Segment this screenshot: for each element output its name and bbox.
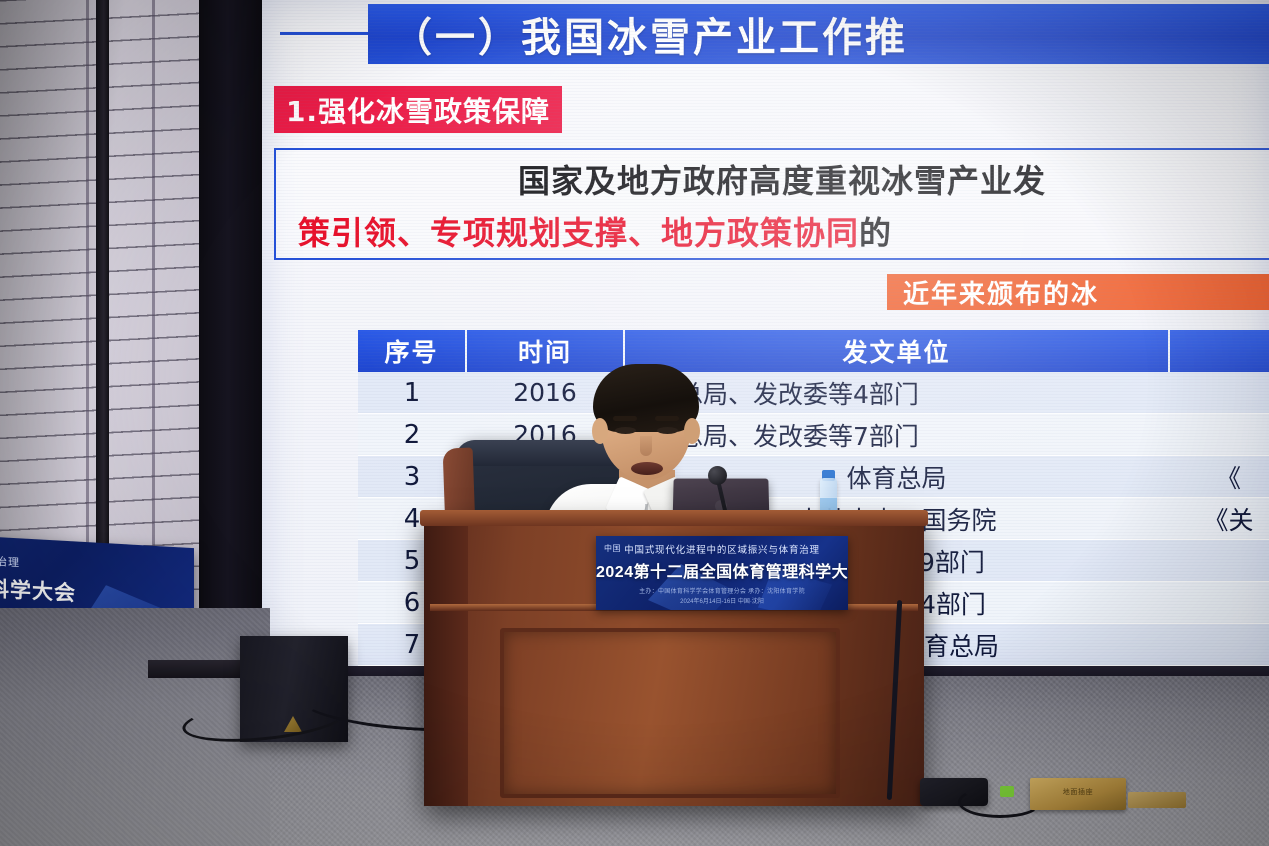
- hair: [593, 364, 699, 432]
- eyebrow-left: [613, 416, 637, 421]
- body-line-2: 策引领、专项规划支撑、地方政策协同的: [276, 208, 1269, 254]
- cell-doc: [1169, 582, 1269, 624]
- column-header-doc: [1169, 330, 1269, 372]
- column-header-index: 序号: [358, 330, 466, 372]
- podium-banner-date: 2024年6月14日-16日 中国·沈阳: [596, 596, 848, 605]
- slide-body-box: 国家及地方政府高度重视冰雪产业发 策引领、专项规划支撑、地方政策协同的: [274, 148, 1269, 260]
- table-header-row: 序号 时间 发文单位: [358, 330, 1269, 372]
- body-line-2-a: 策引领、: [298, 214, 430, 252]
- eye-right: [657, 427, 678, 434]
- cell-doc: [1169, 414, 1269, 456]
- microphone-icon: [708, 466, 727, 485]
- cell-index: 1: [358, 372, 466, 414]
- column-header-time: 时间: [466, 330, 624, 372]
- callout-text: 近年来颁布的冰: [903, 274, 1099, 311]
- cell-doc: 《: [1169, 456, 1269, 498]
- floor-plate-label: 地面插座: [1030, 787, 1126, 797]
- table-row: 1 2016 体育总局、发改委等4部门: [358, 372, 1269, 414]
- column-header-unit: 发文单位: [624, 330, 1169, 372]
- ear-right: [684, 418, 700, 444]
- title-rule: [280, 32, 370, 35]
- podium-banner-organizer: 主办：中国体育科学学会体育管理分会 承办：沈阳体育学院: [596, 586, 848, 595]
- eyebrow-right: [655, 416, 679, 421]
- podium-top-surface: [420, 510, 928, 526]
- floor-outlet-plate: 地面插座: [1030, 778, 1126, 810]
- podium-banner-title: 2024第十二届全国体育管理科学大会: [596, 558, 848, 582]
- podium-side-panel: [424, 516, 468, 806]
- wall-column-right: [199, 0, 263, 700]
- ear-left: [592, 418, 608, 444]
- body-line-1: 国家及地方政府高度重视冰雪产业发: [276, 156, 1269, 202]
- floor-outlet-plate-2: [1128, 792, 1186, 808]
- green-cable-tag: [1000, 786, 1014, 797]
- presentation-photo-stage: （一）我国冰雪产业工作推 1.强化冰雪政策保障 国家及地方政府高度重视冰雪产业发…: [0, 0, 1269, 846]
- mouth: [631, 462, 663, 475]
- body-line-2-tail: 的: [859, 214, 892, 252]
- section-title-text: （一）我国冰雪产业工作推: [392, 5, 908, 63]
- podium-banner-subtitle: 中国式现代化进程中的区域振兴与体育治理: [596, 542, 848, 556]
- body-line-2-c: 地方政策协同: [661, 214, 859, 252]
- cell-doc: [1169, 372, 1269, 414]
- cell-doc: [1169, 540, 1269, 582]
- eye-left: [615, 427, 636, 434]
- nose: [640, 436, 652, 456]
- slide-subsection-label: 1.强化冰雪政策保障: [274, 86, 562, 133]
- podium-front-panel: [500, 628, 840, 798]
- slide-callout-banner: 近年来颁布的冰: [887, 274, 1269, 310]
- slide-section-title: （一）我国冰雪产业工作推: [368, 4, 1269, 64]
- body-line-2-b: 专项规划支撑、: [430, 214, 661, 252]
- podium-conference-banner: 中国 中国式现代化进程中的区域振兴与体育治理 2024第十二届全国体育管理科学大…: [596, 536, 848, 610]
- cell-doc: 《关: [1169, 498, 1269, 540]
- cell-doc: [1169, 624, 1269, 666]
- subsection-label-text: 1.强化冰雪政策保障: [286, 90, 550, 130]
